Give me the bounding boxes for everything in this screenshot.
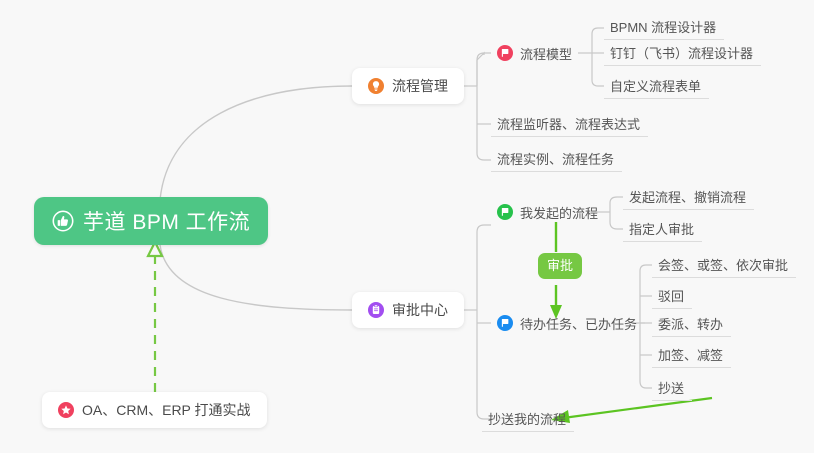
- node-label-approval-center: 审批中心: [392, 300, 448, 320]
- root-label: 芋道 BPM 工作流: [83, 206, 250, 236]
- leaf-label: 驳回: [658, 286, 684, 305]
- edge-root-to-approval-center: [160, 245, 352, 310]
- node-label-process-management: 流程管理: [392, 76, 448, 96]
- node-approval-center[interactable]: 审批中心: [352, 292, 464, 328]
- leaf-add-remove-sign[interactable]: 加签、减签: [652, 342, 731, 368]
- spine-process-management: [477, 53, 484, 86]
- star-icon: [58, 402, 74, 418]
- thumbs-up-icon: [52, 210, 74, 232]
- node-label-my-initiated: 我发起的流程: [520, 203, 598, 222]
- mindmap-canvas: 芋道 BPM 工作流 流程管理 流程模型 BPMN 流程设计器 钉钉（飞书）流程…: [0, 0, 814, 453]
- leaf-label: 流程监听器、流程表达式: [497, 114, 640, 133]
- leaf-label: 指定人审批: [629, 219, 694, 238]
- leaf-delegate-transfer[interactable]: 委派、转办: [652, 311, 731, 337]
- leaf-reject[interactable]: 驳回: [652, 283, 692, 309]
- node-label-todo-done-tasks: 待办任务、已办任务: [520, 314, 637, 333]
- spine-process-management-main: [477, 53, 491, 160]
- leaf-cc-to-me[interactable]: 抄送我的流程: [482, 406, 574, 432]
- node-process-management[interactable]: 流程管理: [352, 68, 464, 104]
- leaf-label: 加签、减签: [658, 345, 723, 364]
- leaf-countersign[interactable]: 会签、或签、依次审批: [652, 252, 796, 278]
- leaf-label: 抄送我的流程: [488, 409, 566, 428]
- leaf-label: 会签、或签、依次审批: [658, 255, 788, 274]
- clipboard-icon: [368, 302, 384, 318]
- root-node[interactable]: 芋道 BPM 工作流: [34, 197, 268, 245]
- leaf-label: 钉钉（飞书）流程设计器: [610, 43, 753, 62]
- annotation-flow-tag-approval: 审批: [538, 253, 582, 279]
- node-process-model[interactable]: 流程模型: [491, 40, 580, 66]
- leaf-label: BPMN 流程设计器: [610, 17, 716, 36]
- flag-icon: [497, 204, 513, 220]
- leaf-instance-task[interactable]: 流程实例、流程任务: [491, 146, 622, 172]
- spine-process-model: [592, 28, 604, 86]
- edge-root-to-process-management: [160, 86, 352, 200]
- leaf-label: 抄送: [658, 378, 684, 397]
- leaf-start-cancel-process[interactable]: 发起流程、撤销流程: [623, 184, 754, 210]
- leaf-label: 自定义流程表单: [610, 76, 701, 95]
- node-my-initiated[interactable]: 我发起的流程: [491, 199, 606, 225]
- spine-my-initiated: [610, 197, 623, 229]
- node-label-process-model: 流程模型: [520, 44, 572, 63]
- annotation-arrow-cc: [563, 398, 712, 418]
- leaf-dingtalk-designer[interactable]: 钉钉（飞书）流程设计器: [604, 40, 761, 66]
- node-label-integration-practice: OA、CRM、ERP 打通实战: [82, 400, 251, 420]
- flag-icon: [497, 45, 513, 61]
- lightbulb-icon: [368, 78, 384, 94]
- leaf-carbon-copy[interactable]: 抄送: [652, 375, 692, 401]
- leaf-label: 流程实例、流程任务: [497, 149, 614, 168]
- leaf-assignee-approval[interactable]: 指定人审批: [623, 216, 702, 242]
- node-todo-done-tasks[interactable]: 待办任务、已办任务: [491, 310, 645, 336]
- leaf-custom-form[interactable]: 自定义流程表单: [604, 73, 709, 99]
- leaf-label: 委派、转办: [658, 314, 723, 333]
- flag-icon: [497, 315, 513, 331]
- node-integration-practice[interactable]: OA、CRM、ERP 打通实战: [42, 392, 267, 428]
- spine-approval-center: [477, 225, 491, 419]
- leaf-listener-expression[interactable]: 流程监听器、流程表达式: [491, 111, 648, 137]
- leaf-label: 发起流程、撤销流程: [629, 187, 746, 206]
- leaf-bpmn-designer[interactable]: BPMN 流程设计器: [604, 14, 724, 40]
